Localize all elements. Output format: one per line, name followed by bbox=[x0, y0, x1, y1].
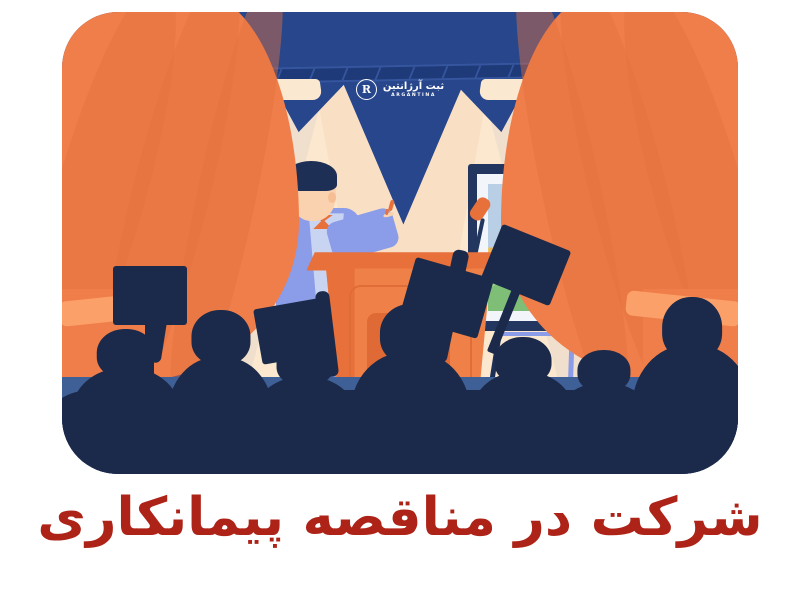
audience-foreground-mass bbox=[62, 390, 738, 474]
brand-name-en: ARGANTINA bbox=[391, 94, 436, 99]
auction-illustration: ثبت آرژانتین ARGANTINA R bbox=[62, 12, 738, 474]
auctioneer-ear bbox=[328, 192, 336, 203]
brand-name-fa: ثبت آرژانتین bbox=[383, 82, 444, 92]
registered-trademark-icon: R bbox=[356, 79, 377, 100]
brand-logo-text: ثبت آرژانتین ARGANTINA bbox=[383, 82, 444, 99]
page-title: شرکت در مناقصه پیمانکاری bbox=[0, 487, 800, 550]
audience-silhouettes bbox=[62, 317, 738, 474]
gavel-head-icon bbox=[388, 200, 394, 211]
